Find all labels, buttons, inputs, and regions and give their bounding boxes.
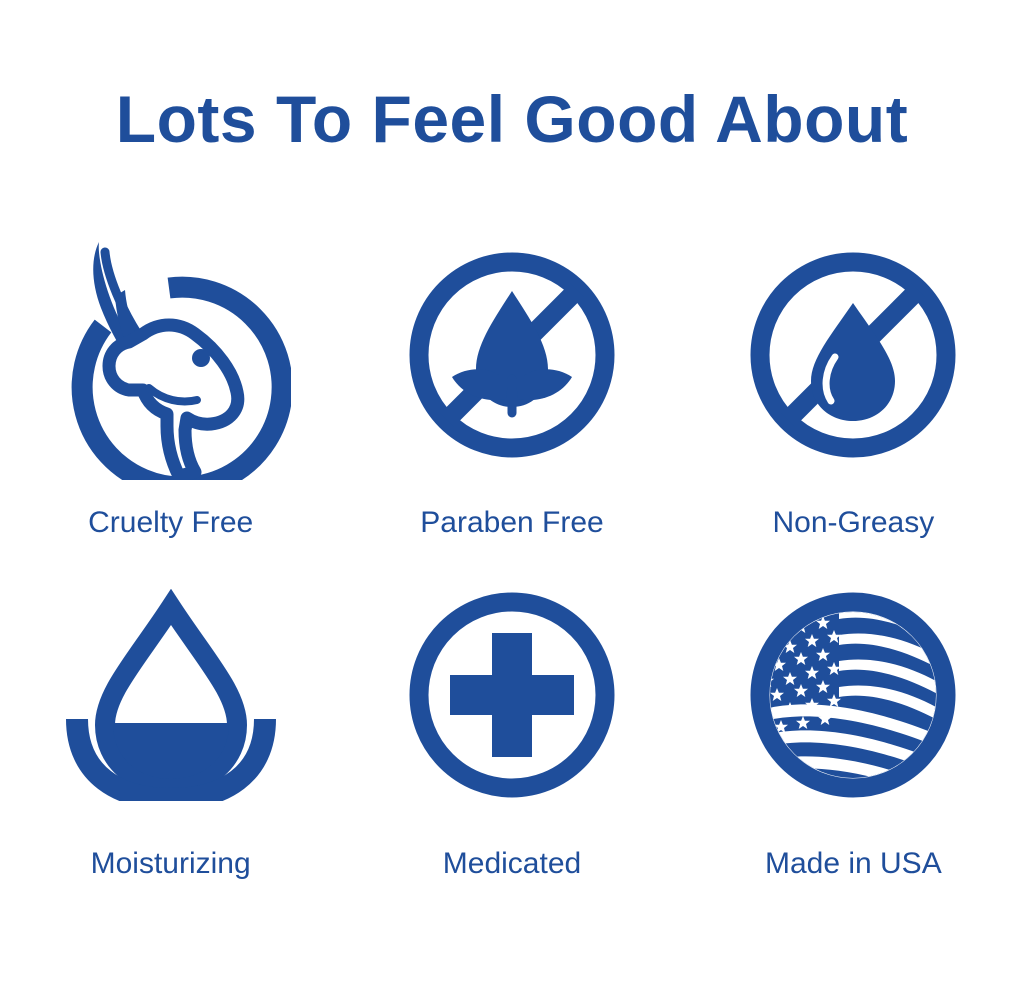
badge-label: Cruelty Free — [88, 506, 253, 539]
no-leaf-prohibition-icon — [382, 230, 642, 480]
badge-medicated[interactable]: Medicated — [341, 575, 682, 880]
rabbit-head-circle-icon — [41, 230, 301, 480]
badge-label: Paraben Free — [420, 506, 603, 539]
usa-flag-circle-icon — [723, 575, 983, 815]
benefits-grid: Cruelty Free Paraben Free — [0, 230, 1024, 880]
droplet-with-arc-icon — [41, 575, 301, 815]
badge-paraben-free[interactable]: Paraben Free — [341, 230, 682, 539]
badge-non-greasy[interactable]: Non-Greasy — [683, 230, 1024, 539]
badge-label: Made in USA — [765, 847, 942, 880]
badge-label: Non-Greasy — [772, 506, 934, 539]
page-title: Lots To Feel Good About — [0, 86, 1024, 152]
badge-label: Moisturizing — [91, 847, 251, 880]
medical-cross-circle-icon — [382, 575, 642, 815]
badge-moisturizing[interactable]: Moisturizing — [0, 575, 341, 880]
badge-cruelty-free[interactable]: Cruelty Free — [0, 230, 341, 539]
no-oil-droplet-prohibition-icon — [723, 230, 983, 480]
badge-label: Medicated — [443, 847, 581, 880]
infographic-page: Lots To Feel Good About — [0, 0, 1024, 997]
badge-made-in-usa[interactable]: Made in USA — [683, 575, 1024, 880]
